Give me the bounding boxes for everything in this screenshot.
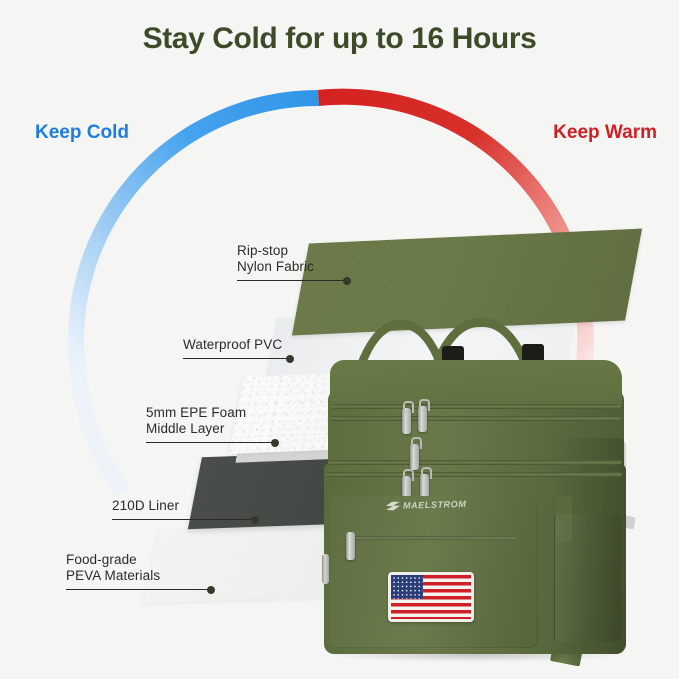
callout-liner: 210D Liner (112, 498, 255, 520)
zipper-seam (330, 416, 620, 421)
callout-foam-label: 5mm EPE Foam Middle Layer (146, 405, 275, 437)
brand-swoosh-icon (386, 501, 400, 510)
callout-dot-icon (251, 516, 259, 524)
front-pocket-zipper-track (342, 536, 516, 540)
us-flag-stars (391, 575, 423, 599)
zipper-pull-icon (402, 408, 411, 434)
zipper-pull-icon (418, 406, 427, 432)
callout-dot-icon (207, 586, 215, 594)
callout-nylon-label: Rip-stop Nylon Fabric (237, 243, 347, 275)
callout-peva: Food-grade PEVA Materials (66, 552, 211, 590)
callout-foam-leader (146, 442, 275, 443)
callout-peva-leader (66, 589, 211, 590)
infographic-root: Stay Cold for up to 16 Hours Keep Cold K… (0, 0, 679, 679)
bag-top-lid (330, 360, 622, 408)
callout-peva-label: Food-grade PEVA Materials (66, 552, 211, 584)
side-zipper-pull-icon (322, 554, 329, 584)
brand-logo-text: MAELSTROM (403, 499, 467, 511)
us-flag-stripes (391, 575, 471, 619)
callout-pvc-label: Waterproof PVC (183, 337, 290, 353)
callout-dot-icon (271, 439, 279, 447)
callout-liner-leader (112, 519, 255, 520)
zipper-seam (328, 460, 622, 465)
callout-dot-icon (286, 355, 294, 363)
zipper-seam (326, 472, 622, 477)
brand-logo: MAELSTROM (386, 499, 467, 511)
us-flag-patch-icon (388, 572, 474, 622)
callout-pvc-leader (183, 358, 290, 359)
us-flag-canton (391, 575, 423, 599)
front-pocket-zipper-pull-icon (346, 532, 355, 560)
callout-liner-label: 210D Liner (112, 498, 255, 514)
zipper-pull-icon (410, 444, 419, 470)
callout-dot-icon (343, 277, 351, 285)
callout-nylon: Rip-stop Nylon Fabric (237, 243, 347, 281)
product-cooler-bag: MAELSTROM (316, 318, 666, 666)
bag-side-pocket (554, 514, 621, 642)
callout-foam: 5mm EPE Foam Middle Layer (146, 405, 275, 443)
callout-pvc: Waterproof PVC (183, 337, 290, 359)
zipper-seam (332, 404, 620, 409)
callout-nylon-leader (237, 280, 347, 281)
